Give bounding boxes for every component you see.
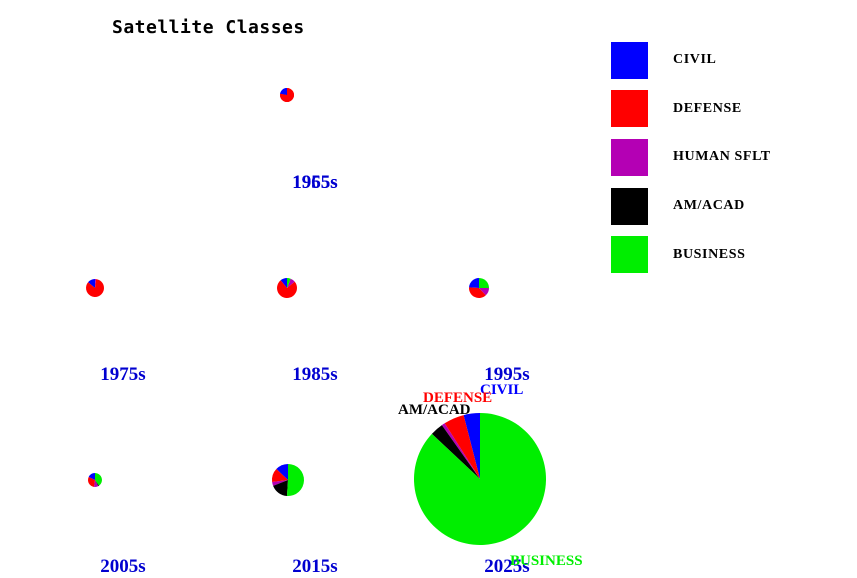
year-label-2005s: 2005s	[100, 556, 145, 578]
legend-item-human-sflt[interactable]: HUMAN SFLT	[611, 133, 841, 182]
slice-label-business: BUSINESS	[510, 553, 583, 570]
year-label-1965s: 1965s	[292, 172, 337, 194]
legend-label: CIVIL	[673, 52, 716, 68]
year-label-1975s: 1975s	[100, 364, 145, 386]
pie-slice-business	[287, 464, 304, 496]
pie-chart-2005s	[86, 471, 104, 489]
business-swatch	[611, 236, 648, 273]
year-label-2015s: 2015s	[292, 556, 337, 578]
legend-item-am-acad[interactable]: AM/ACAD	[611, 182, 841, 231]
legend-label: HUMAN SFLT	[673, 149, 771, 165]
legend-label: DEFENSE	[673, 101, 742, 117]
legend-item-civil[interactable]: CIVIL	[611, 36, 841, 85]
chart-canvas: Satellite Classes 1955s1965s1975s1985s19…	[0, 0, 857, 576]
pie-chart-2025s	[412, 411, 548, 547]
legend-item-defense[interactable]: DEFENSE	[611, 85, 841, 134]
pie-chart-1965s	[278, 86, 296, 104]
human-sflt-swatch	[611, 139, 648, 176]
pie-slice-business	[479, 278, 489, 288]
legend-label: AM/ACAD	[673, 198, 745, 214]
legend-label: BUSINESS	[673, 247, 746, 263]
pie-chart-2015s	[270, 462, 306, 498]
am-acad-swatch	[611, 188, 648, 225]
pie-slice-civil	[469, 278, 479, 288]
pie-chart-1995s	[467, 276, 491, 300]
pie-chart-1975s	[84, 277, 106, 299]
legend-item-business[interactable]: BUSINESS	[611, 230, 841, 279]
pie-chart-1985s	[275, 276, 299, 300]
defense-swatch	[611, 90, 648, 127]
civil-swatch	[611, 42, 648, 79]
page-title: Satellite Classes	[112, 17, 305, 38]
slice-label-am-acad: AM/ACAD	[398, 402, 471, 419]
legend: CIVILDEFENSEHUMAN SFLTAM/ACADBUSINESS	[611, 36, 841, 279]
year-label-1985s: 1985s	[292, 364, 337, 386]
